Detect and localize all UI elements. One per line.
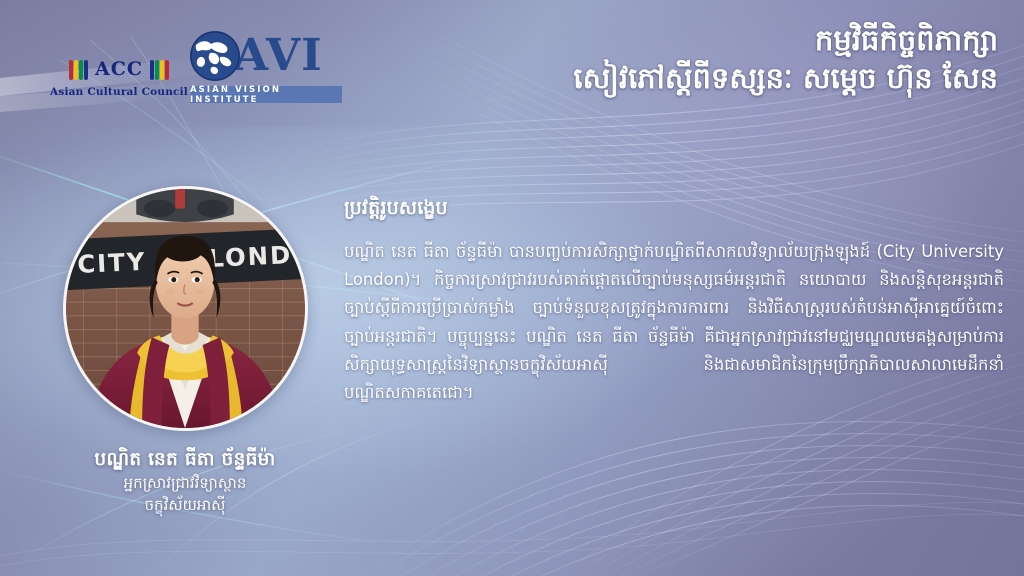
acc-logo-row: ACC [69,57,169,83]
avi-logo-top: AVI [190,28,342,84]
avi-logo: AVI ASIAN VISION INSTITUTE [190,28,342,106]
speaker-caption: បណ្ឌិត នេត ធីតា ច័ន្ទធីម៉ា អ្នកស្រាវជ្រា… [20,447,350,516]
slide-title: កម្មវិធីកិច្ចពិភាក្សា សៀវភៅស្ដីពីទស្សនៈ … [398,22,998,97]
title-line-2: សៀវភៅស្ដីពីទស្សនៈ សម្ដេច ហ៊ុន សែន [398,60,998,98]
acc-ribbon-left-icon [69,59,91,81]
presentation-slide: ACC Asian Cultural Council [0,0,1024,576]
speaker-role-line-1: អ្នកស្រាវជ្រាវវិទ្យាស្ថាន [20,473,350,495]
biography-block: ប្រវត្តិរូបសង្ខេប បណ្ឌិត នេត ធីតា ច័ន្ទធ… [344,196,1004,407]
logo-group: ACC Asian Cultural Council [0,0,380,130]
biography-heading: ប្រវត្តិរូបសង្ខេប [344,196,1004,224]
avi-band-text: ASIAN VISION INSTITUTE [190,85,342,105]
acc-abbreviation: ACC [95,60,143,79]
acc-logo: ACC Asian Cultural Council [60,48,178,106]
speaker-role-line-2: ចក្ខុវិស័យអាស៊ី [20,495,350,517]
title-line-1: កម្មវិធីកិច្ចពិភាក្សា [398,22,998,60]
speaker-portrait: CITY OF LONDON [63,186,308,431]
acc-ribbon-right-icon [147,59,169,81]
portrait-photo: CITY OF LONDON [66,189,305,428]
speaker-name: បណ្ឌិត នេត ធីតា ច័ន្ទធីម៉ា [20,447,350,473]
biography-paragraph: បណ្ឌិត នេត ធីតា ច័ន្ទធីម៉ា បានបញ្ចប់ការស… [344,238,1004,407]
globe-icon [190,31,240,81]
avi-wordmark: AVI [234,34,323,78]
acc-full-name: Asian Cultural Council [50,86,188,98]
avi-band: ASIAN VISION INSTITUTE [190,86,342,103]
